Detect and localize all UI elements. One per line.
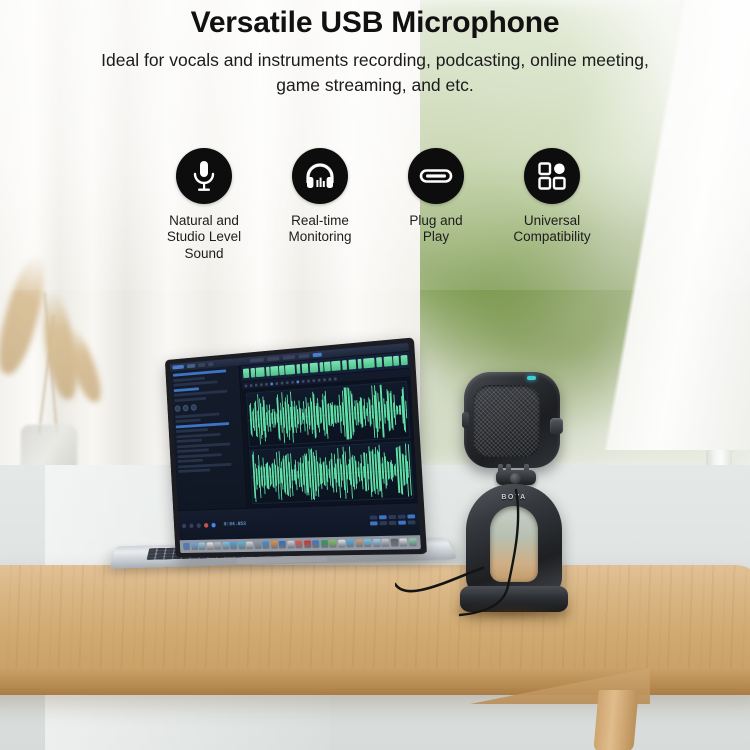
feature-item-universal-compatibility: Universal Compatibility xyxy=(498,148,606,246)
dock-app-icon[interactable] xyxy=(287,541,294,549)
laptop-lid: 0:04.853 xyxy=(165,337,427,557)
dock-app-icon[interactable] xyxy=(191,543,198,550)
usb-cable-to-laptop xyxy=(395,560,485,610)
feature-label: Real-time Monitoring xyxy=(288,213,351,246)
laptop: 0:04.853 xyxy=(142,336,442,591)
transport-stop-button[interactable] xyxy=(197,523,201,528)
mount-thumb-screw[interactable] xyxy=(510,473,521,484)
transport-record-button[interactable] xyxy=(204,523,208,528)
page-title: Versatile USB Microphone xyxy=(0,6,750,40)
app-grid-icon xyxy=(537,161,567,191)
feature-item-realtime-monitoring: Real-time Monitoring xyxy=(266,148,374,246)
brand-logo: BOYA xyxy=(501,494,526,501)
microphone-head xyxy=(464,372,560,468)
dock-app-icon[interactable] xyxy=(183,543,190,550)
feature-icon-badge xyxy=(408,148,464,204)
dock-app-icon[interactable] xyxy=(214,542,221,550)
feature-icon-badge xyxy=(292,148,348,204)
daw-mixer-grid[interactable] xyxy=(370,514,416,525)
product-marketing-image: 0:04.853 xyxy=(0,0,750,750)
dock-app-icon[interactable] xyxy=(355,539,363,547)
daw-waveform-tracks[interactable] xyxy=(242,377,418,508)
dock-app-icon[interactable] xyxy=(312,540,320,548)
transport-timecode: 0:04.853 xyxy=(224,521,247,527)
dock-app-icon[interactable] xyxy=(271,541,278,549)
laptop-trackpad[interactable] xyxy=(237,556,328,564)
transport-prev-button[interactable] xyxy=(182,523,186,528)
dock-app-icon[interactable] xyxy=(222,542,229,550)
dock-app-icon[interactable] xyxy=(409,538,417,546)
dock-app-icon[interactable] xyxy=(399,538,407,546)
dock-app-icon[interactable] xyxy=(382,539,390,547)
daw-inspector-panel[interactable] xyxy=(170,365,247,511)
dock-app-icon[interactable] xyxy=(246,542,253,550)
waveform-track[interactable] xyxy=(246,381,410,447)
transport-loop-button[interactable] xyxy=(211,522,215,527)
feature-label: Universal Compatibility xyxy=(513,213,590,246)
feature-item-natural-studio-sound: Natural and Studio Level Sound xyxy=(150,148,258,262)
usb-c-connector-icon xyxy=(419,167,453,185)
daw-knob-row[interactable] xyxy=(175,401,239,412)
dock-app-icon[interactable] xyxy=(199,542,206,549)
status-led-indicator xyxy=(527,376,536,380)
desk-leg xyxy=(593,690,638,750)
dock-app-icon[interactable] xyxy=(279,541,286,549)
dock-app-icon[interactable] xyxy=(364,539,372,547)
dock-app-icon[interactable] xyxy=(230,542,237,550)
dock-app-icon[interactable] xyxy=(262,541,269,549)
laptop-screen: 0:04.853 xyxy=(170,343,421,553)
waveform-track[interactable] xyxy=(249,441,414,504)
dock-app-icon[interactable] xyxy=(295,541,302,549)
dock-app-icon[interactable] xyxy=(304,540,312,548)
yoke-opening xyxy=(490,506,538,582)
feature-icon-badge xyxy=(176,148,232,204)
dock-app-icon[interactable] xyxy=(206,542,213,549)
dock-app-icon[interactable] xyxy=(321,540,329,548)
dock-app-icon[interactable] xyxy=(254,541,261,549)
dock-app-icon[interactable] xyxy=(390,539,398,547)
dock-app-icon[interactable] xyxy=(329,540,337,548)
headphones-icon xyxy=(304,161,336,191)
mic-gain-knob[interactable] xyxy=(550,418,563,434)
feature-item-plug-and-play: Plug and Play xyxy=(382,148,490,246)
mic-side-tab xyxy=(462,412,469,428)
feature-label: Natural and Studio Level Sound xyxy=(167,213,241,262)
waveform-right-channel xyxy=(252,442,411,503)
dock-app-icon[interactable] xyxy=(373,539,381,547)
microphone-grille xyxy=(473,385,540,457)
daw-transport-panel[interactable]: 0:04.853 xyxy=(178,502,420,540)
dock-app-icon[interactable] xyxy=(338,540,346,548)
page-subtitle: Ideal for vocals and instruments recordi… xyxy=(84,48,666,98)
dock-app-icon[interactable] xyxy=(238,542,245,550)
waveform-left-channel xyxy=(249,382,408,446)
microphone-icon xyxy=(189,159,219,193)
transport-play-button[interactable] xyxy=(189,523,193,528)
feature-icon-badge xyxy=(524,148,580,204)
dock-app-icon[interactable] xyxy=(346,539,354,547)
feature-list: Natural and Studio Level Sound Real-time… xyxy=(150,148,606,262)
feature-label: Plug and Play xyxy=(409,213,462,246)
